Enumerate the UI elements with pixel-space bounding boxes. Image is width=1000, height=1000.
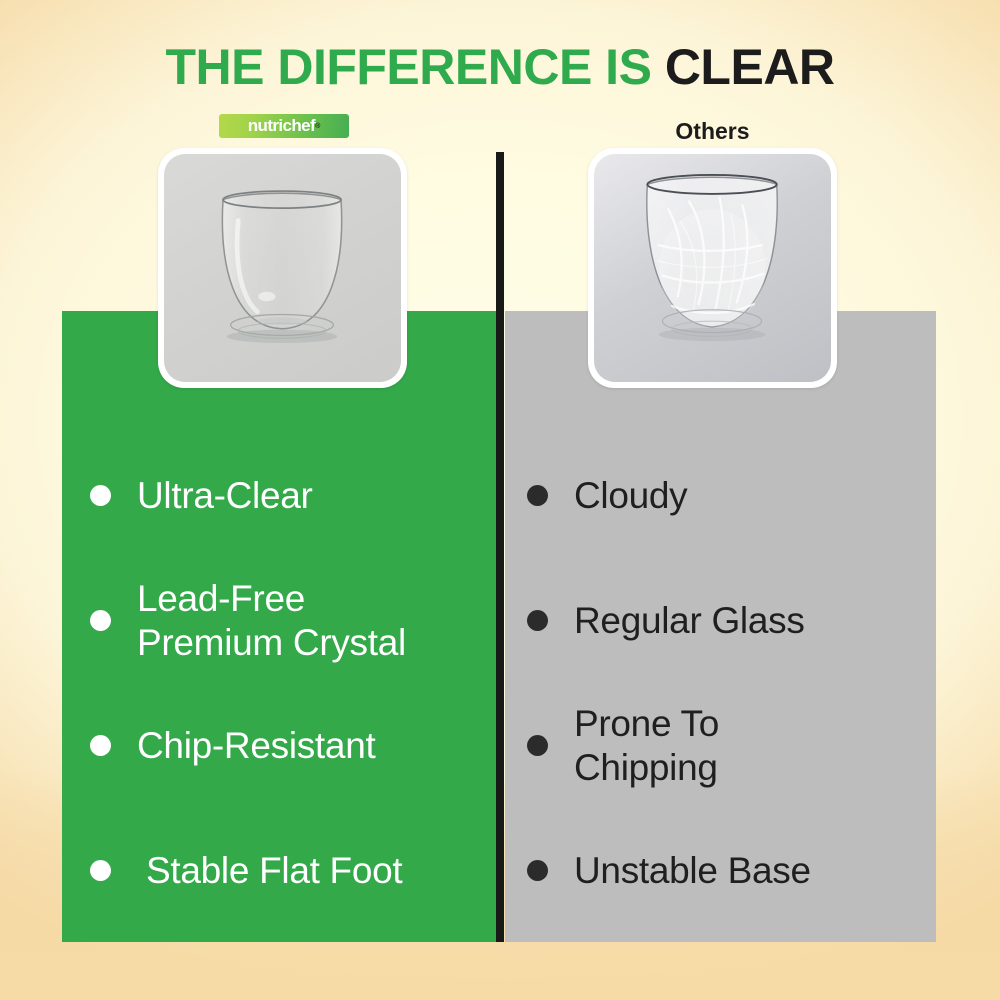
page-title: THE DIFFERENCE IS CLEAR — [0, 38, 1000, 96]
trademark-icon: ® — [315, 123, 320, 130]
bullet-dot-icon — [527, 860, 548, 881]
feature-label: Lead-Free Premium Crystal — [137, 577, 406, 664]
feature-label: Unstable Base — [574, 849, 811, 893]
nutrichef-brand-badge: nutrichef® — [219, 114, 349, 138]
bullet-dot-icon — [527, 485, 548, 506]
list-item: Regular Glass — [505, 558, 936, 683]
list-item: Chip-Resistant — [62, 683, 499, 808]
feature-label: Regular Glass — [574, 599, 805, 643]
bullet-dot-icon — [90, 610, 111, 631]
page-title-green-part: THE DIFFERENCE IS — [165, 39, 651, 95]
feature-label: Cloudy — [574, 474, 687, 518]
feature-label: Prone To Chipping — [574, 702, 719, 789]
feature-label: Ultra-Clear — [137, 474, 313, 518]
feature-label: Chip-Resistant — [137, 724, 375, 768]
others-column-label: Others — [585, 118, 840, 145]
bullet-dot-icon — [90, 735, 111, 756]
comparison-infographic: THE DIFFERENCE IS CLEAR nutrichef® Other… — [0, 0, 1000, 1000]
list-item: Cloudy — [505, 433, 936, 558]
bullet-dot-icon — [90, 485, 111, 506]
list-item: Prone To Chipping — [505, 683, 936, 808]
feature-label: Stable Flat Foot — [137, 849, 402, 893]
page-title-dark-part: CLEAR — [665, 39, 835, 95]
others-feature-list: Cloudy Regular Glass Prone To Chipping U… — [505, 311, 936, 942]
list-item: Unstable Base — [505, 808, 936, 933]
bullet-dot-icon — [527, 735, 548, 756]
bullet-dot-icon — [90, 860, 111, 881]
list-item: Lead-Free Premium Crystal — [62, 558, 499, 683]
list-item: Ultra-Clear — [62, 433, 499, 558]
brand-label: nutrichef — [248, 117, 315, 134]
nutrichef-feature-list: Ultra-Clear Lead-Free Premium Crystal Ch… — [62, 311, 499, 942]
list-item: Stable Flat Foot — [62, 808, 499, 933]
bullet-dot-icon — [527, 610, 548, 631]
